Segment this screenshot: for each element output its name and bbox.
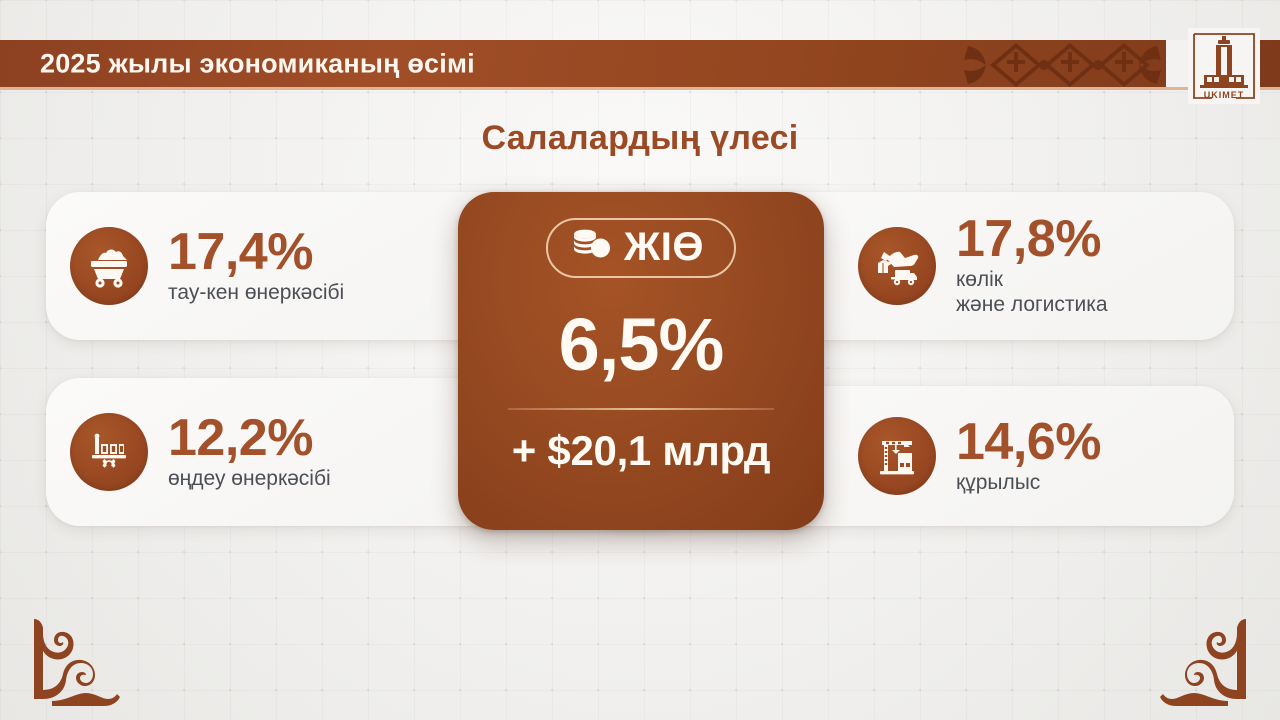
- gdp-divider: [508, 408, 774, 410]
- gdp-amount: + $20,1 млрд: [512, 430, 770, 472]
- sector-value-manufacture: 12,2%: [168, 413, 331, 464]
- sector-label-manufacture: өңдеу өнеркәсібі: [168, 467, 331, 492]
- sector-label-mining: тау-кен өнеркәсібі: [168, 281, 344, 306]
- section-heading: Салалардың үлесі: [0, 119, 1280, 158]
- sector-text-mining: 17,4% тау-кен өнеркәсібі: [168, 227, 344, 306]
- factory-gear-icon: [70, 413, 148, 491]
- sector-label-construction: құрылыс: [956, 471, 1101, 496]
- page-title: 2025 жылы экономиканың өсімі: [40, 48, 475, 79]
- sector-value-logistics: 17,8%: [956, 214, 1108, 265]
- mining-cart-icon: [70, 227, 148, 305]
- sector-card-trade[interactable]: 26% сауда: [0, 0, 356, 222]
- ukimet-logo: UKIMET: [1188, 28, 1260, 104]
- gdp-badge-label: ЖІӨ: [624, 227, 704, 267]
- sector-text-logistics: 17,8% көлік және логистика: [956, 214, 1108, 317]
- logo-caption: UKIMET: [1204, 90, 1245, 100]
- gdp-badge: ЖІӨ: [546, 218, 736, 278]
- sector-text-construction: 14,6% құрылыс: [956, 417, 1101, 496]
- gdp-value: 6,5%: [559, 308, 724, 382]
- corner-ornament-left: [28, 615, 128, 710]
- corner-ornament-right: [1152, 615, 1252, 710]
- crane-icon: [858, 417, 936, 495]
- sector-text-manufacture: 12,2% өңдеу өнеркәсібі: [168, 413, 331, 492]
- kazakh-ornament: [960, 40, 1165, 90]
- plane-truck-icon: [858, 227, 936, 305]
- sector-label-trade: сауда: [180, 166, 279, 192]
- header-bar: 2025 жылы экономиканың өсімі: [0, 40, 1280, 90]
- sector-label-logistics: көлік және логистика: [956, 268, 1108, 318]
- coins-icon: [572, 228, 612, 267]
- gdp-card[interactable]: ЖІӨ 6,5% + $20,1 млрд: [458, 192, 824, 530]
- sector-value-construction: 14,6%: [956, 417, 1101, 468]
- sector-value-mining: 17,4%: [168, 227, 344, 278]
